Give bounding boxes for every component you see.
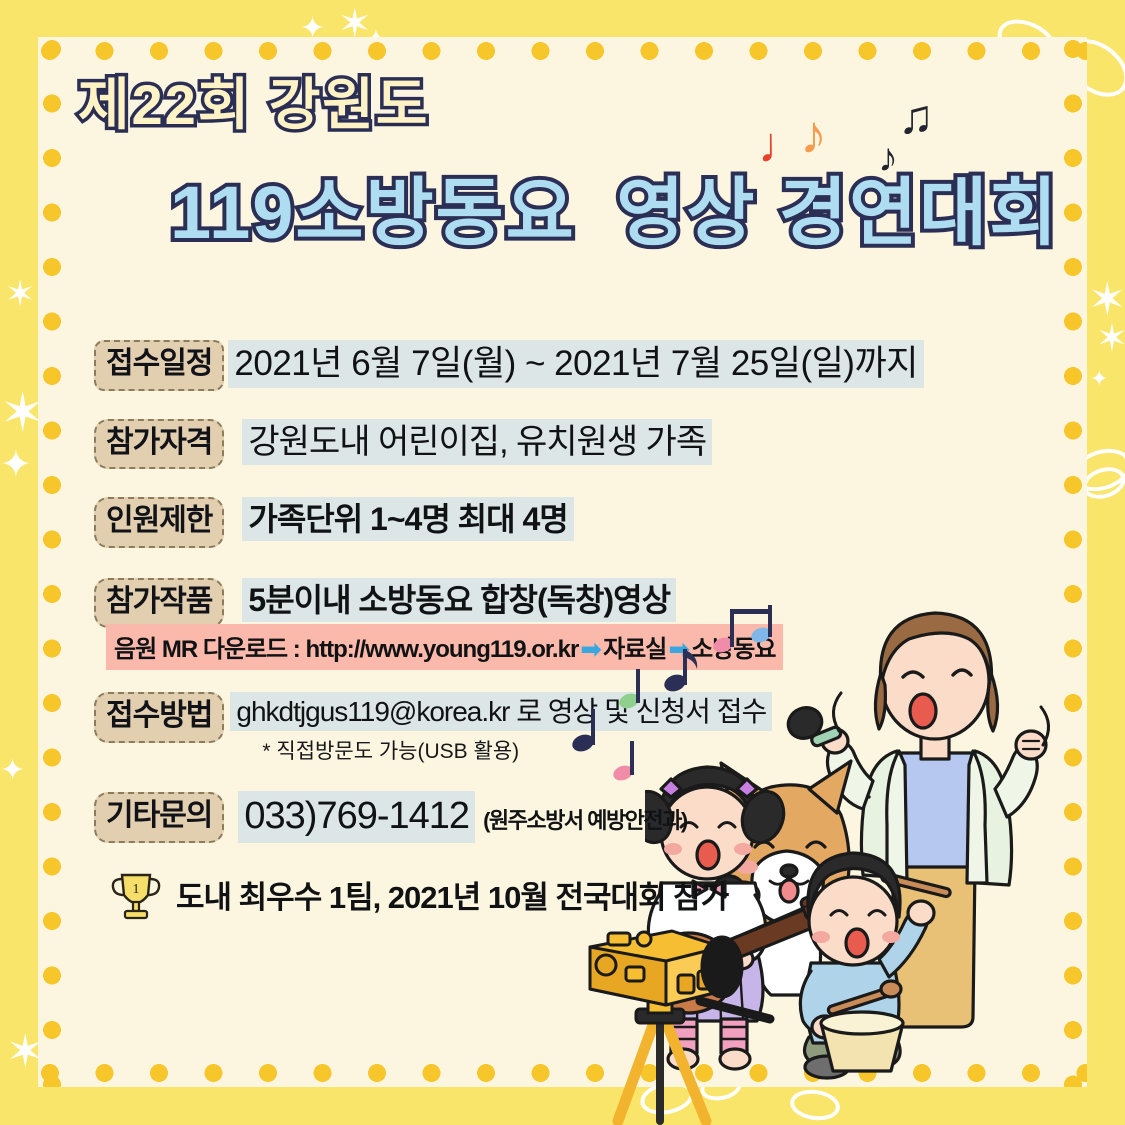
value-wrap-schedule: 2021년 6월 7일(월) ~ 2021년 7월 25일(일)까지 <box>228 340 923 388</box>
label-badge-entry-work: 참가작품 <box>94 578 224 629</box>
value-eligibility: 강원도내 어린이집, 유치원생 가족 <box>242 419 712 466</box>
label-badge-eligibility: 참가자격 <box>94 419 224 470</box>
title-line-2: 119소방동요 영상 경연대회 <box>170 153 1125 260</box>
label-badge-schedule: 접수일정 <box>94 340 224 391</box>
mr-suffix: 소방동요 <box>691 636 775 663</box>
national-contest-text: 도내 최우수 1팀, 2021년 10월 전국대회 참가 <box>176 872 728 917</box>
dotted-border-bottom <box>38 1061 1087 1085</box>
value-entry-work: 5분이내 소방동요 합창(독창)영상 <box>242 578 676 622</box>
poster-root: ✶ ✦ ✦ ✶ ✶ ✦ ✦ ✶ ✶ ✶ ✦ 제22회 강원도 119소방동요 영… <box>0 0 1125 1125</box>
svg-text:1: 1 <box>133 882 140 897</box>
info-row-inquiry: 기타문의 033)769-1412 (원주소방서 예방안전과) <box>94 791 1054 843</box>
label-badge-submit-method: 접수방법 <box>94 692 224 743</box>
arrow-right-icon: ➡ <box>668 634 689 665</box>
value-wrap-entry-work: 5분이내 소방동요 합창(독창)영상 <box>242 578 676 622</box>
info-row-submit-method: 접수방법 ghkdtjgus119@korea.kr 로 영상 및 신청서 접수… <box>94 692 1054 765</box>
poster-title: 제22회 강원도 119소방동요 영상 경연대회 <box>0 60 1125 260</box>
arrow-right-icon: ➡ <box>580 634 601 665</box>
info-row-schedule: 접수일정 2021년 6월 7일(월) ~ 2021년 7월 25일(일)까지 <box>94 340 1054 391</box>
sparkle-icon: ✦ <box>1090 368 1108 390</box>
value-wrap-team-size: 가족단위 1~4명 최대 4명 <box>242 497 573 541</box>
info-list: 접수일정 2021년 6월 7일(월) ~ 2021년 7월 25일(일)까지 … <box>94 340 1054 921</box>
info-row-eligibility: 참가자격 강원도내 어린이집, 유치원생 가족 <box>94 419 1054 470</box>
value-wrap-eligibility: 강원도내 어린이집, 유치원생 가족 <box>242 419 712 466</box>
value-inquiry-department: (원주소방서 예방안전과) <box>483 803 687 843</box>
value-wrap-submit-method: ghkdtjgus119@korea.kr 로 영상 및 신청서 접수 * 직접… <box>230 692 772 765</box>
info-row-team-size: 인원제한 가족단위 1~4명 최대 4명 <box>94 497 1054 548</box>
national-contest-note: 1 도내 최우수 1팀, 2021년 10월 전국대회 참가 <box>108 869 1054 921</box>
sparkle-icon: ✦ <box>0 756 25 786</box>
title-part-119: 119소방동요 <box>170 171 576 254</box>
value-schedule: 2021년 6월 7일(월) ~ 2021년 7월 25일(일)까지 <box>228 340 923 388</box>
mr-mid: 자료실 <box>603 636 666 663</box>
sparkle-icon: ✦ <box>0 446 32 484</box>
sparkle-icon: ✶ <box>1096 320 1125 358</box>
title-part-contest: 영상 경연대회 <box>616 171 1059 254</box>
info-row-entry-work: 참가작품 5분이내 소방동요 합창(독창)영상 <box>94 578 1054 629</box>
submit-method-subnote: * 직접방문도 가능(USB 활용) <box>262 735 772 765</box>
mr-download-bar[interactable]: 음원 MR 다운로드 : http://www.young119.or.kr➡자… <box>106 624 783 670</box>
value-wrap-inquiry: 033)769-1412 <box>238 791 475 843</box>
label-badge-team-size: 인원제한 <box>94 497 224 548</box>
sparkle-icon: ✶ <box>5 276 35 312</box>
label-badge-inquiry: 기타문의 <box>94 792 224 843</box>
sparkle-icon: ✶ <box>1088 276 1125 322</box>
value-inquiry-phone: 033)769-1412 <box>238 791 475 843</box>
title-line-1: 제22회 강원도 <box>78 60 1125 141</box>
swirl-doodle-icon <box>788 1087 842 1124</box>
value-submit-method: ghkdtjgus119@korea.kr 로 영상 및 신청서 접수 <box>230 692 772 731</box>
value-team-size: 가족단위 1~4명 최대 4명 <box>242 497 573 541</box>
trophy-icon: 1 <box>108 869 164 921</box>
mr-prefix: 음원 MR 다운로드 : http://www.young119.or.kr <box>114 636 578 663</box>
